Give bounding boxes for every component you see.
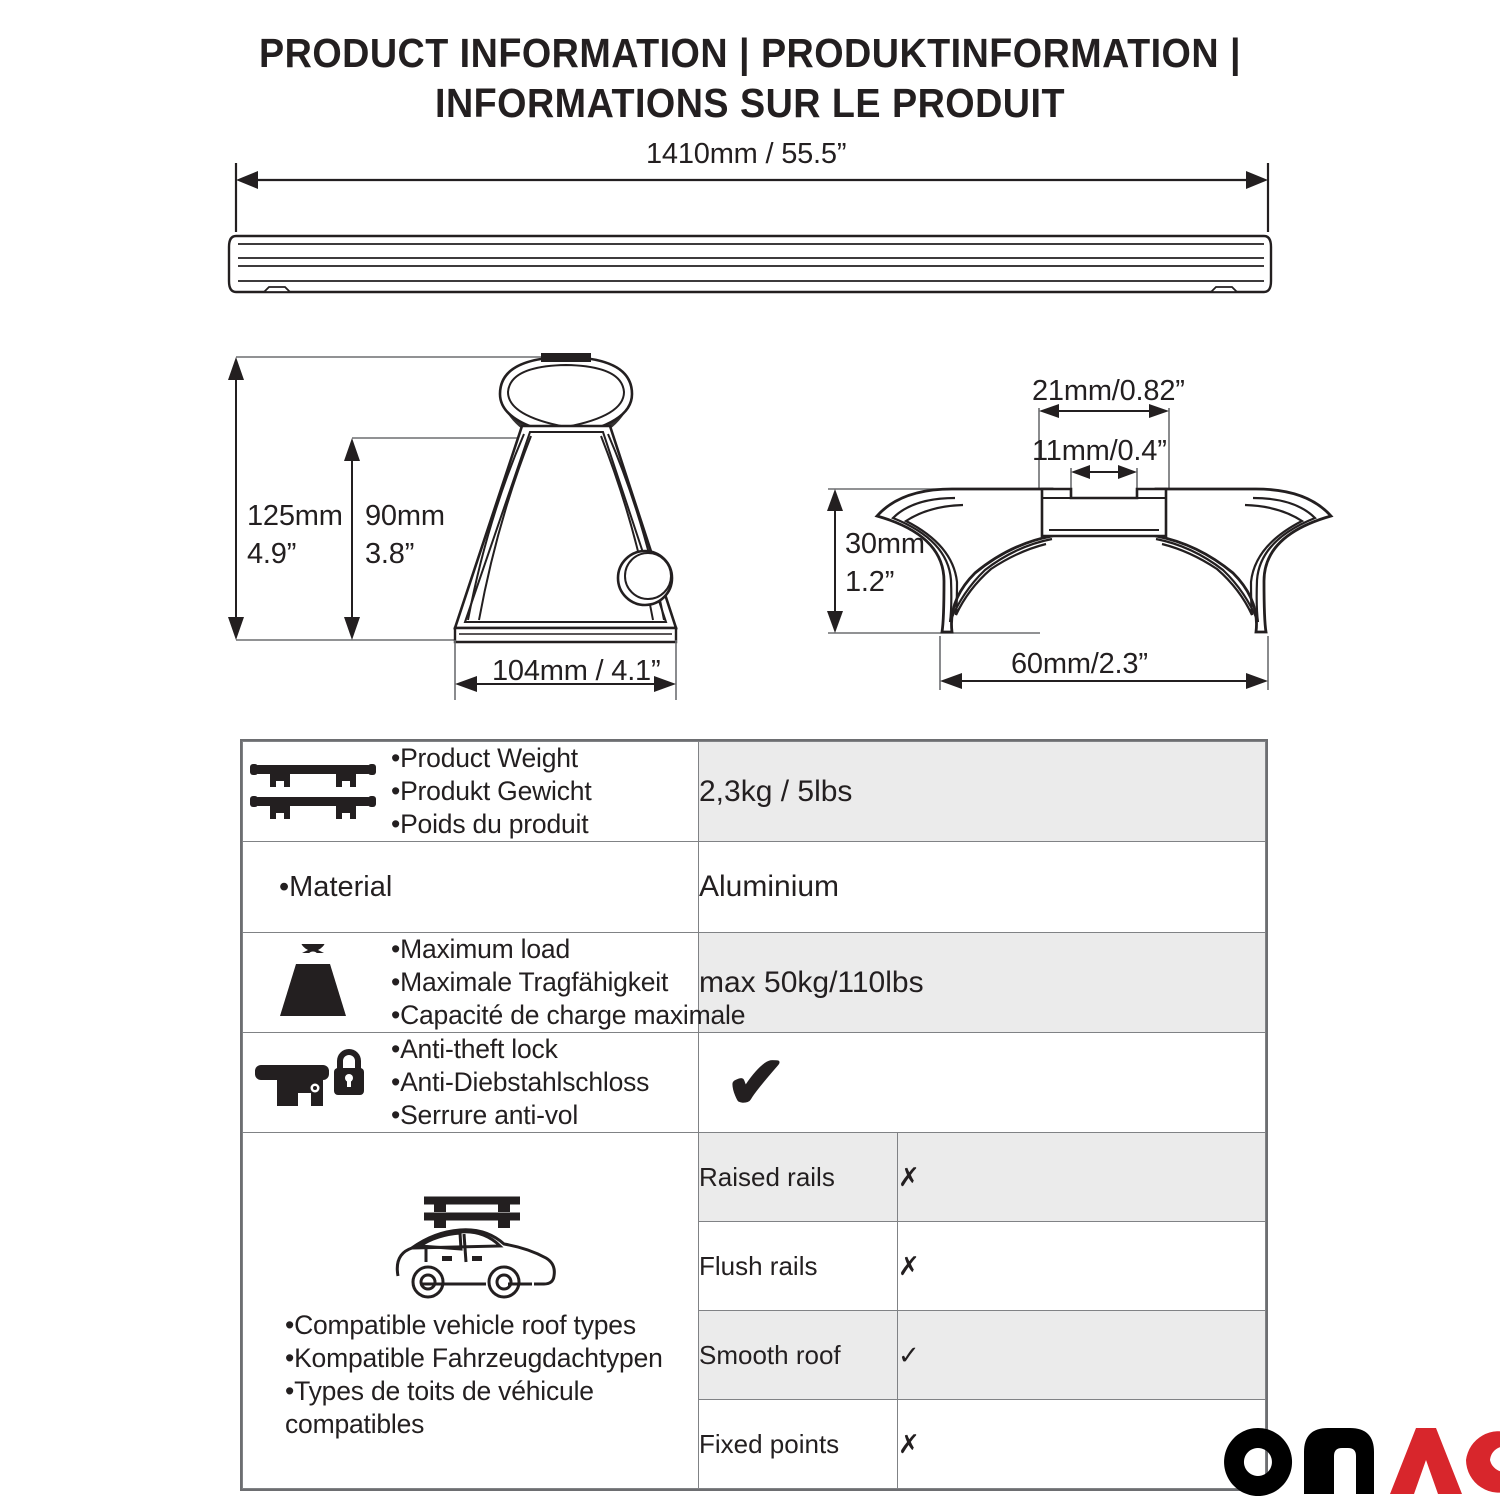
- product-weight-value: 2,3kg / 5lbs: [699, 742, 1266, 842]
- channel-outer-label: 21mm/0.82”: [1032, 375, 1185, 408]
- omac-logo: [1222, 1424, 1500, 1496]
- max-load-labels: •Maximum load •Maximale Tragfähigkeit •C…: [391, 933, 745, 1032]
- max-load-value: max 50kg/110lbs: [699, 933, 1266, 1033]
- roof-types-table: Raised rails ✗ Flush rails ✗ Smooth roof…: [699, 1133, 1265, 1488]
- specifications-table: •Product Weight •Produkt Gewicht •Poids …: [240, 739, 1268, 1491]
- label-fr: •Serrure anti-vol: [391, 1099, 649, 1132]
- anti-theft-labels: •Anti-theft lock •Anti-Diebstahlschloss …: [391, 1033, 649, 1132]
- product-weight-label-cell: •Product Weight •Produkt Gewicht •Poids …: [243, 742, 699, 842]
- label-fr: •Poids du produit: [391, 808, 592, 841]
- compatibility-label-cell: •Compatible vehicle roof types •Kompatib…: [243, 1133, 699, 1489]
- label-de: •Anti-Diebstahlschloss: [391, 1066, 649, 1099]
- t-slot-channel: [1042, 489, 1166, 536]
- label-de: •Kompatible Fahrzeugdachtypen: [285, 1342, 698, 1375]
- product-information-sheet: PRODUCT INFORMATION | PRODUKTINFORMATION…: [0, 0, 1500, 1500]
- roof-type-name: Flush rails: [699, 1222, 898, 1311]
- roof-type-row: Raised rails ✗: [699, 1133, 1265, 1222]
- logo-letter-o: [1224, 1428, 1292, 1496]
- label-en: •Compatible vehicle roof types: [285, 1309, 698, 1342]
- roof-types-cell: Raised rails ✗ Flush rails ✗ Smooth roof…: [699, 1133, 1266, 1489]
- table-row: •Material Aluminium: [243, 842, 1266, 933]
- label-en: •Product Weight: [391, 742, 592, 775]
- label-de: •Produkt Gewicht: [391, 775, 592, 808]
- car-with-rack-icon: [243, 1188, 698, 1303]
- roof-type-row: Smooth roof ✓: [699, 1311, 1265, 1400]
- profile-height-mm-label: 30mm: [845, 528, 925, 561]
- label-fr-cont: compatibles: [285, 1408, 698, 1441]
- material-label-cell: •Material: [243, 842, 699, 933]
- label-en: •Maximum load: [391, 933, 745, 966]
- channel-inner-label: 11mm/0.4”: [1032, 435, 1167, 468]
- logo-letter-m: [1304, 1428, 1374, 1494]
- roof-type-row: Flush rails ✗: [699, 1222, 1265, 1311]
- roof-type-name: Fixed points: [699, 1400, 898, 1489]
- profile-cross-section-drawing: [0, 0, 1500, 740]
- logo-letter-a: [1390, 1428, 1462, 1494]
- table-row: •Maximum load •Maximale Tragfähigkeit •C…: [243, 933, 1266, 1033]
- anti-theft-value-cell: ✔: [699, 1033, 1266, 1133]
- roof-type-mark: ✓: [898, 1311, 1266, 1400]
- roof-type-row: Fixed points ✗: [699, 1400, 1265, 1489]
- roof-type-name: Smooth roof: [699, 1311, 898, 1400]
- table-row: •Compatible vehicle roof types •Kompatib…: [243, 1133, 1266, 1489]
- table-row: •Product Weight •Produkt Gewicht •Poids …: [243, 742, 1266, 842]
- anti-theft-label-cell: •Anti-theft lock •Anti-Diebstahlschloss …: [243, 1033, 699, 1133]
- material-value: Aluminium: [699, 842, 1266, 933]
- profile-height-in-label: 1.2”: [845, 566, 894, 599]
- label-en: •Anti-theft lock: [391, 1033, 649, 1066]
- logo-letter-c: [1466, 1431, 1500, 1492]
- product-weight-labels: •Product Weight •Produkt Gewicht •Poids …: [391, 742, 592, 841]
- table-row: •Anti-theft lock •Anti-Diebstahlschloss …: [243, 1033, 1266, 1133]
- roof-type-mark: ✗: [898, 1400, 1266, 1489]
- max-load-label-cell: •Maximum load •Maximale Tragfähigkeit •C…: [243, 933, 699, 1033]
- compatibility-labels: •Compatible vehicle roof types •Kompatib…: [243, 1309, 698, 1441]
- lock-icon: [243, 1047, 383, 1119]
- label-fr: •Capacité de charge maximale: [391, 999, 745, 1032]
- material-label: •Material: [243, 871, 698, 904]
- roof-type-mark: ✗: [898, 1222, 1266, 1311]
- anti-theft-check: ✔: [699, 1046, 1265, 1120]
- weight-icon: [243, 944, 383, 1022]
- label-fr: •Types de toits de véhicule: [285, 1375, 698, 1408]
- roof-type-name: Raised rails: [699, 1133, 898, 1222]
- crossbars-icon: [243, 757, 383, 827]
- profile-width-label: 60mm/2.3”: [1011, 648, 1148, 681]
- label-de: •Maximale Tragfähigkeit: [391, 966, 745, 999]
- roof-type-mark: ✗: [898, 1133, 1266, 1222]
